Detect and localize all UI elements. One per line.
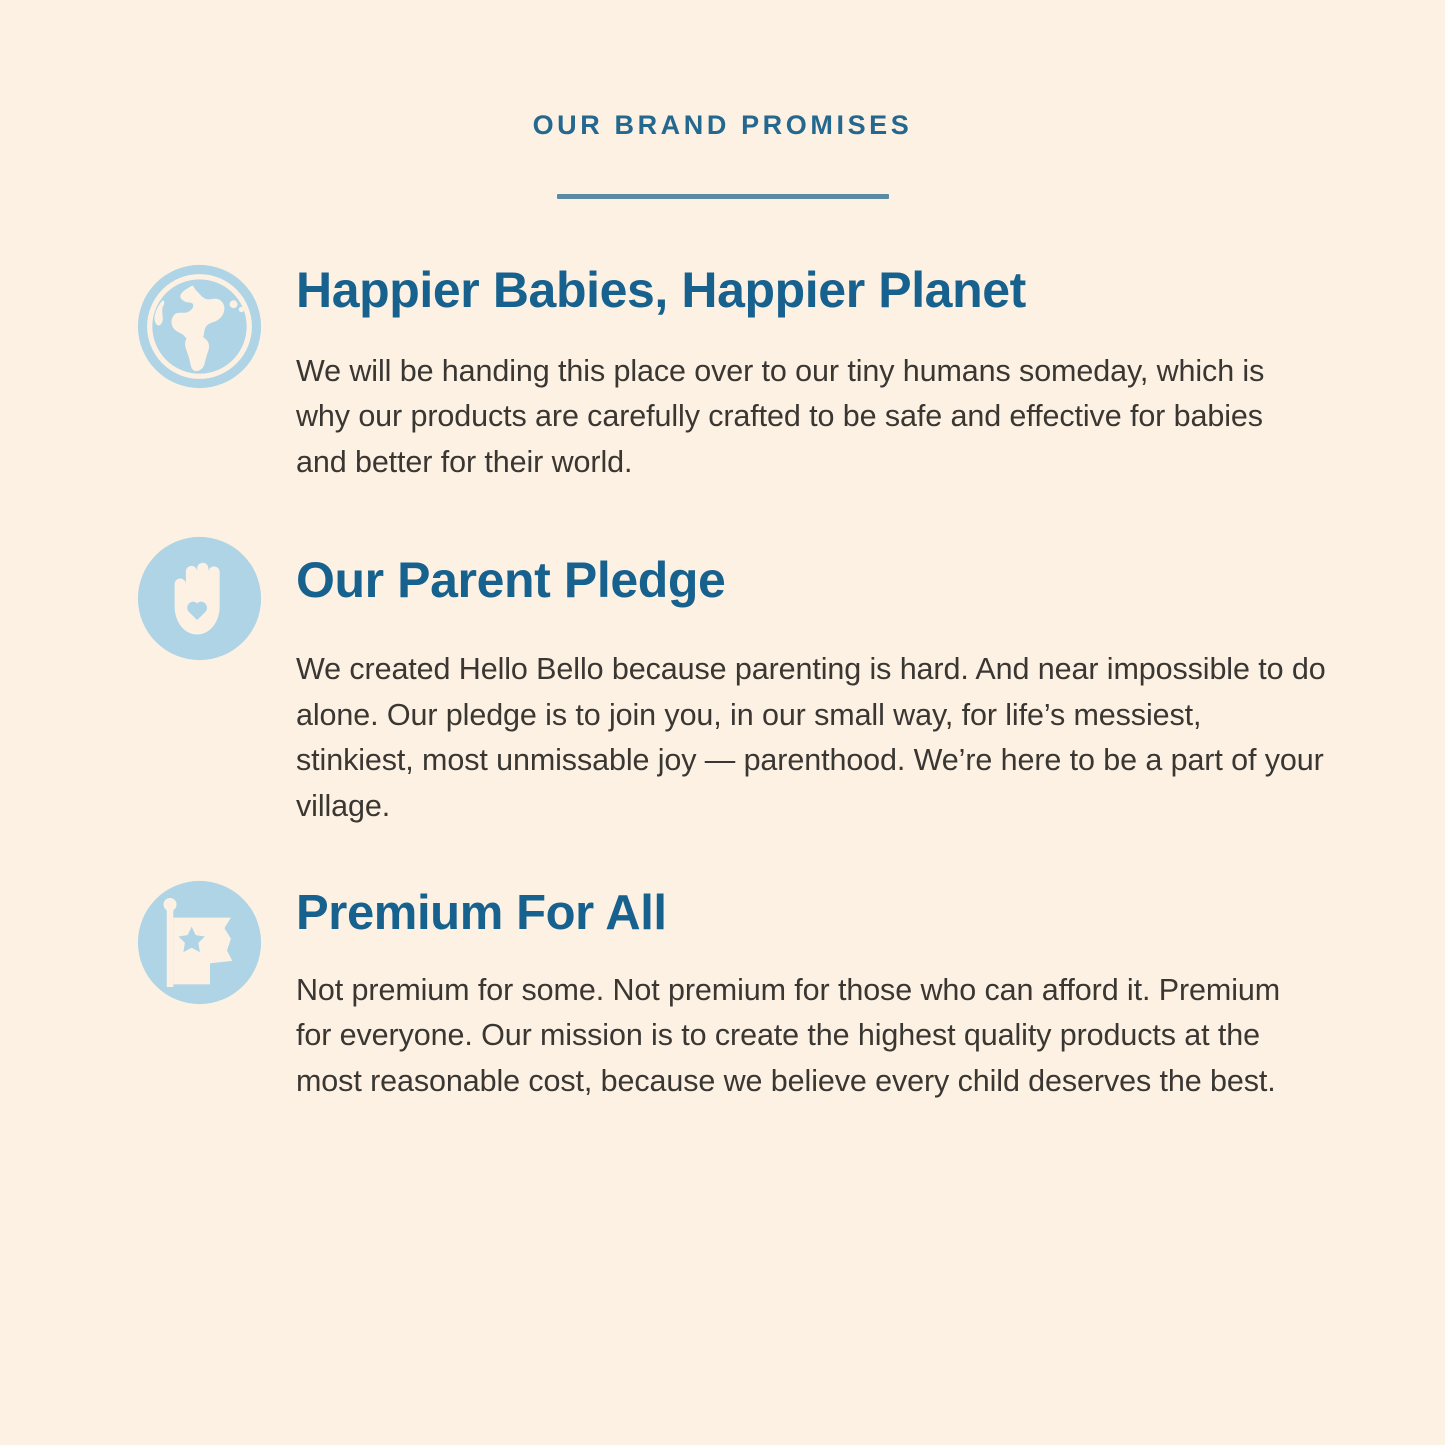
promise-title: Premium For All <box>296 887 1335 940</box>
globe-icon <box>134 261 265 392</box>
promise-title: Happier Babies, Happier Planet <box>296 263 1335 317</box>
flag-star-icon <box>134 877 265 1008</box>
promise-title: Our Parent Pledge <box>296 553 1335 607</box>
promise-text: Our Parent Pledge We created Hello Bello… <box>296 533 1335 829</box>
header-divider <box>557 194 889 199</box>
hand-heart-icon <box>134 533 265 664</box>
page-title: OUR BRAND PROMISES <box>0 112 1445 139</box>
promise-item: Happier Babies, Happier Planet We will b… <box>134 261 1335 485</box>
promise-body: We created Hello Bello because parenting… <box>296 647 1326 829</box>
promises-list: Happier Babies, Happier Planet We will b… <box>0 261 1445 1104</box>
promise-body: Not premium for some. Not premium for th… <box>296 968 1318 1104</box>
promise-text: Premium For All Not premium for some. No… <box>296 877 1335 1104</box>
promise-item: Our Parent Pledge We created Hello Bello… <box>134 533 1335 829</box>
brand-promises-page: OUR BRAND PROMISES Happier Babi <box>0 0 1445 1445</box>
promise-item: Premium For All Not premium for some. No… <box>134 877 1335 1104</box>
promise-body: We will be handing this place over to ou… <box>296 349 1271 485</box>
promise-text: Happier Babies, Happier Planet We will b… <box>296 261 1335 485</box>
page-header: OUR BRAND PROMISES <box>0 0 1445 199</box>
